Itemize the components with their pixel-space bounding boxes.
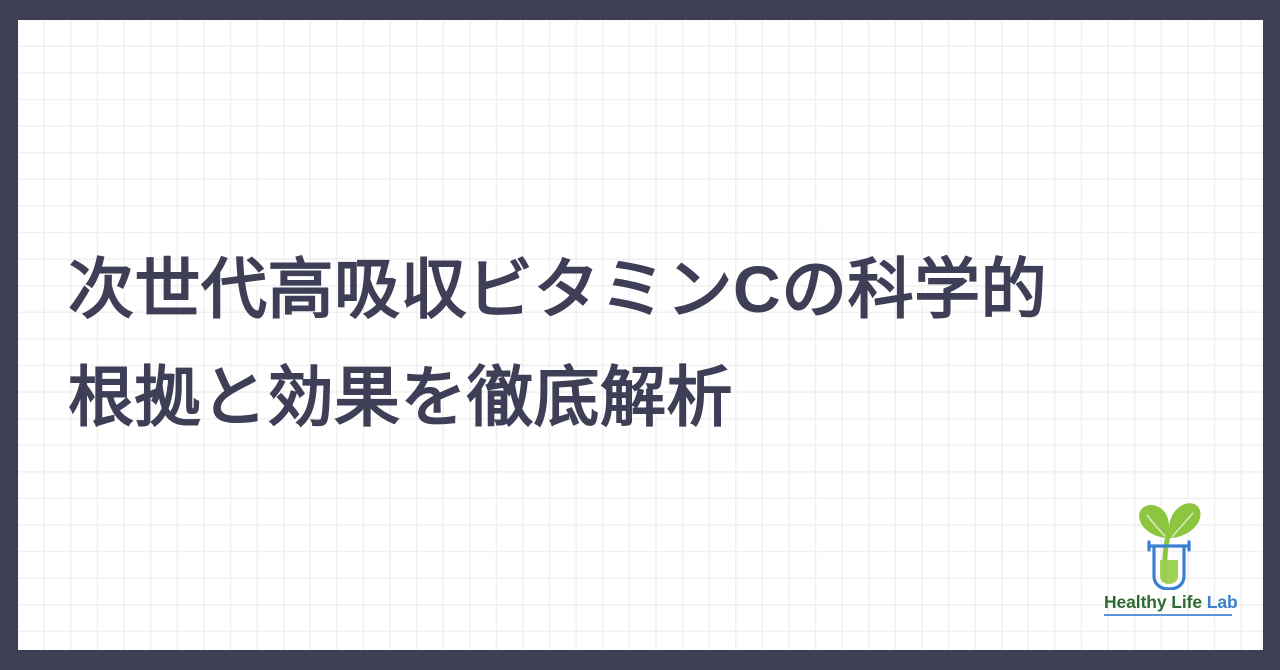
page-title: 次世代高吸収ビタミンCの科学的 根拠と効果を徹底解析 xyxy=(68,235,1198,451)
title-card-canvas: 次世代高吸収ビタミンCの科学的 根拠と効果を徹底解析 xyxy=(0,0,1280,670)
grid-paper-background: 次世代高吸収ビタミンCの科学的 根拠と効果を徹底解析 xyxy=(18,20,1263,650)
title-line-1: 次世代高吸収ビタミンCの科学的 xyxy=(68,235,1198,343)
brand-underline-rule xyxy=(1104,614,1232,616)
test-tube-with-sprout-icon xyxy=(1130,498,1208,590)
title-line-2: 根拠と効果を徹底解析 xyxy=(68,343,1198,451)
brand-name-secondary: Lab xyxy=(1207,592,1238,612)
brand-wordmark: Healthy Life Lab xyxy=(1104,592,1234,612)
brand-logo: Healthy Life Lab xyxy=(1104,498,1234,616)
brand-name-primary: Healthy Life xyxy=(1104,592,1202,612)
